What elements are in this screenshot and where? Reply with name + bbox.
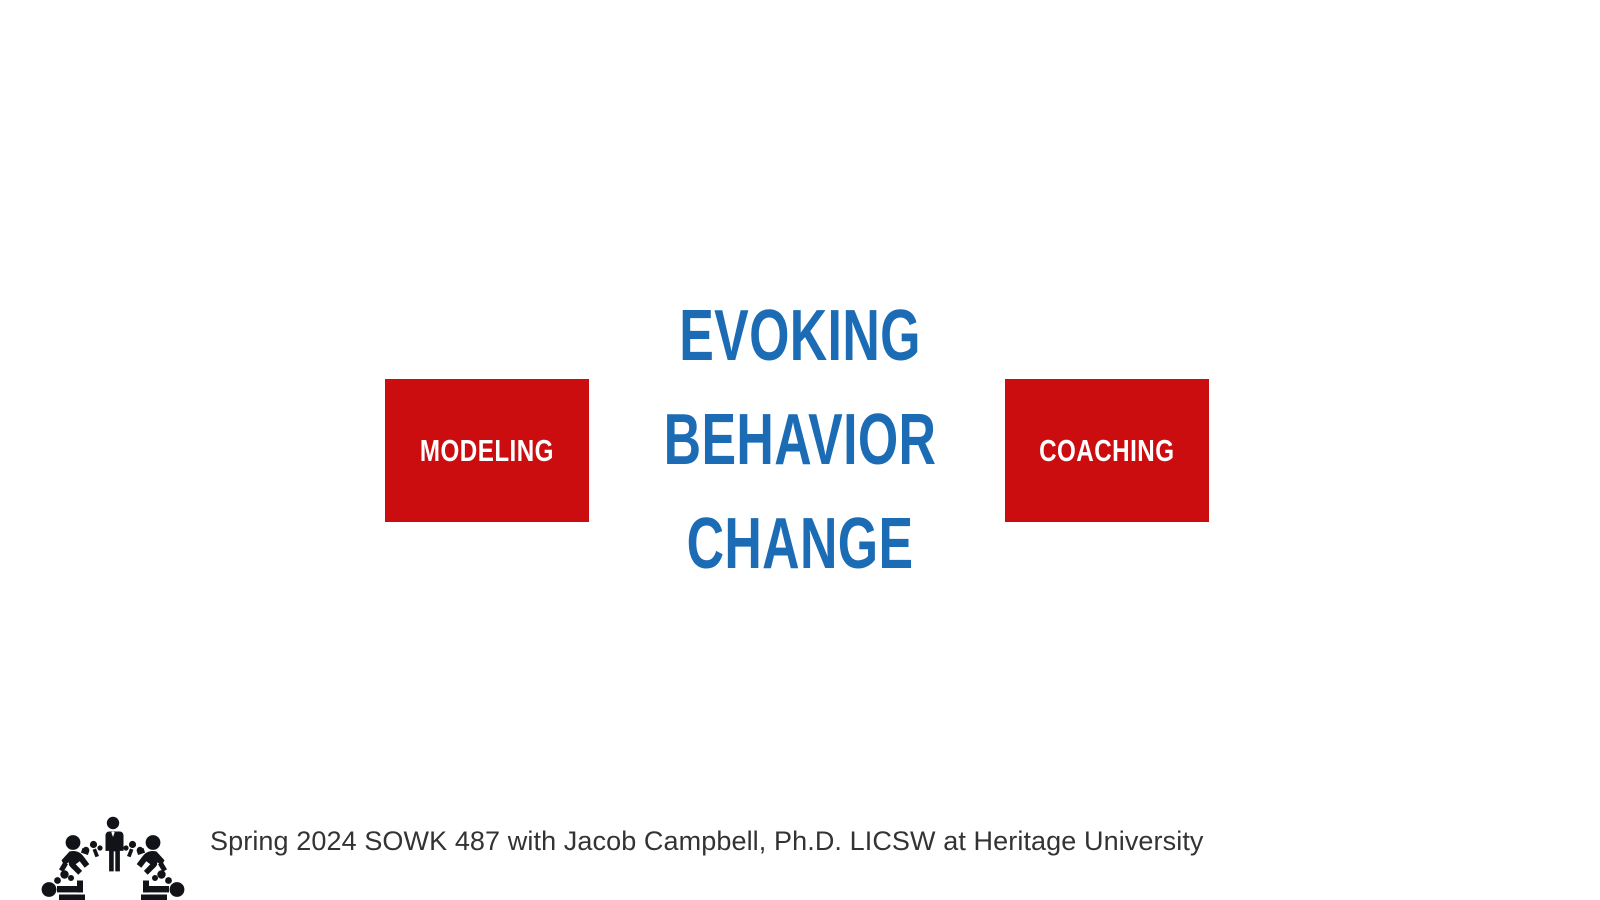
concept-box-modeling-label: MODELING [420,433,554,469]
title-line-1: EVOKING [655,284,946,388]
concept-box-coaching-label: COACHING [1039,433,1174,469]
footer-attribution-text: Spring 2024 SOWK 487 with Jacob Campbell… [210,826,1204,857]
concept-box-coaching[interactable]: COACHING [1005,379,1209,522]
concept-box-modeling[interactable]: MODELING [385,379,589,522]
title-line-2: BEHAVIOR [655,388,946,492]
slide-canvas: EVOKING BEHAVIOR CHANGE MODELING COACHIN… [0,0,1600,900]
slide-title: EVOKING BEHAVIOR CHANGE [655,284,946,596]
human-progression-arc-icon [38,804,188,900]
title-line-3: CHANGE [655,492,946,596]
slide-footer: Spring 2024 SOWK 487 with Jacob Campbell… [0,790,1600,900]
